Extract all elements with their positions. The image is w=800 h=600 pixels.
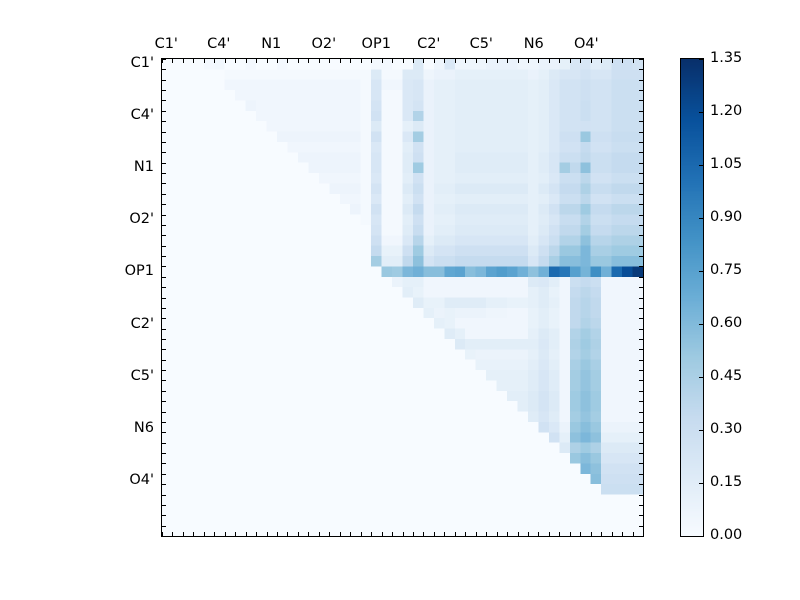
axis-tick bbox=[256, 59, 257, 63]
axis-tick bbox=[371, 59, 372, 63]
axis-tick bbox=[423, 532, 424, 536]
colorbar-tick-label: 0.90 bbox=[710, 209, 742, 225]
axis-tick bbox=[162, 515, 166, 516]
axis-tick bbox=[162, 463, 166, 464]
axis-tick bbox=[639, 526, 643, 527]
colorbar-tick-label: 0.15 bbox=[710, 474, 742, 490]
axis-tick bbox=[639, 69, 643, 70]
y-tick-label: OP1 bbox=[125, 263, 154, 279]
figure-canvas: C1'C4'N1O2'OP1C2'C5'N6O4' C1'C4'N1O2'OP1… bbox=[0, 0, 800, 600]
axis-tick bbox=[162, 121, 166, 122]
axis-tick bbox=[162, 505, 166, 506]
axis-tick bbox=[162, 495, 166, 496]
axis-tick bbox=[162, 484, 166, 485]
axis-tick bbox=[580, 59, 581, 63]
axis-tick bbox=[162, 80, 166, 81]
axis-tick bbox=[423, 59, 424, 63]
axis-tick bbox=[465, 59, 466, 63]
axis-tick bbox=[639, 59, 643, 60]
axis-tick bbox=[549, 532, 550, 536]
x-tick-label: O4' bbox=[574, 36, 599, 52]
axis-tick bbox=[340, 59, 341, 63]
axis-tick bbox=[162, 277, 166, 278]
axis-tick bbox=[639, 183, 643, 184]
axis-tick bbox=[162, 443, 166, 444]
axis-tick bbox=[639, 349, 643, 350]
axis-tick bbox=[639, 360, 643, 361]
axis-tick bbox=[570, 532, 571, 536]
axis-tick bbox=[444, 532, 445, 536]
axis-tick bbox=[162, 90, 166, 91]
axis-tick bbox=[350, 59, 351, 63]
axis-tick bbox=[308, 59, 309, 63]
axis-tick bbox=[162, 69, 166, 70]
x-tick-label: C4' bbox=[207, 36, 230, 52]
axis-tick bbox=[639, 412, 643, 413]
axis-tick bbox=[277, 532, 278, 536]
colorbar-tick bbox=[699, 483, 703, 484]
axis-tick bbox=[639, 266, 643, 267]
axis-tick bbox=[403, 59, 404, 63]
y-tick-label: N6 bbox=[134, 420, 154, 436]
axis-tick bbox=[639, 152, 643, 153]
colorbar-tick bbox=[699, 430, 703, 431]
axis-tick bbox=[639, 391, 643, 392]
axis-tick bbox=[162, 132, 166, 133]
axis-tick bbox=[235, 532, 236, 536]
colorbar-tick-label: 0.00 bbox=[710, 527, 742, 543]
axis-tick bbox=[455, 532, 456, 536]
x-tick-label: OP1 bbox=[362, 36, 391, 52]
axis-tick bbox=[622, 59, 623, 63]
axis-tick bbox=[591, 59, 592, 63]
axis-tick bbox=[172, 59, 173, 63]
axis-tick bbox=[162, 142, 166, 143]
axis-tick bbox=[633, 59, 634, 63]
axis-tick bbox=[497, 59, 498, 63]
axis-tick bbox=[256, 532, 257, 536]
axis-tick bbox=[549, 59, 550, 63]
colorbar-tick bbox=[699, 377, 703, 378]
axis-tick bbox=[162, 380, 166, 381]
axis-tick bbox=[361, 59, 362, 63]
axis-tick bbox=[162, 432, 166, 433]
axis-tick bbox=[319, 532, 320, 536]
axis-tick bbox=[183, 59, 184, 63]
axis-tick bbox=[298, 532, 299, 536]
y-tick-label: N1 bbox=[134, 159, 154, 175]
axis-tick bbox=[639, 495, 643, 496]
axis-tick bbox=[162, 266, 166, 267]
axis-tick bbox=[601, 59, 602, 63]
axis-tick bbox=[639, 204, 643, 205]
axis-tick bbox=[204, 59, 205, 63]
axis-tick bbox=[639, 443, 643, 444]
colorbar-tick-label: 0.45 bbox=[710, 368, 742, 384]
colorbar-tick bbox=[699, 165, 703, 166]
axis-tick bbox=[538, 59, 539, 63]
colorbar-tick-label: 0.75 bbox=[710, 262, 742, 278]
y-tick-label: C1' bbox=[131, 55, 154, 71]
colorbar-tick-label: 0.30 bbox=[710, 421, 742, 437]
axis-tick bbox=[193, 59, 194, 63]
axis-tick bbox=[162, 235, 166, 236]
y-tick-label: C2' bbox=[131, 316, 154, 332]
axis-tick bbox=[319, 59, 320, 63]
axis-tick bbox=[287, 59, 288, 63]
axis-tick bbox=[486, 532, 487, 536]
axis-tick bbox=[633, 532, 634, 536]
axis-tick bbox=[214, 532, 215, 536]
colorbar bbox=[680, 58, 704, 537]
axis-tick bbox=[639, 308, 643, 309]
axis-tick bbox=[639, 163, 643, 164]
axis-tick bbox=[361, 532, 362, 536]
x-tick-label: C1' bbox=[155, 36, 178, 52]
axis-tick bbox=[639, 505, 643, 506]
axis-tick bbox=[639, 194, 643, 195]
axis-tick bbox=[639, 370, 643, 371]
axis-tick bbox=[434, 59, 435, 63]
colorbar-tick bbox=[699, 59, 703, 60]
axis-tick bbox=[162, 308, 166, 309]
colorbar-tick-label: 1.35 bbox=[710, 50, 742, 66]
axis-tick bbox=[225, 59, 226, 63]
axis-tick bbox=[267, 532, 268, 536]
axis-tick bbox=[639, 380, 643, 381]
axis-tick bbox=[639, 401, 643, 402]
axis-tick bbox=[162, 474, 166, 475]
colorbar-tick-label: 1.05 bbox=[710, 156, 742, 172]
axis-tick bbox=[639, 318, 643, 319]
y-tick-label: C4' bbox=[131, 107, 154, 123]
axis-tick bbox=[162, 422, 166, 423]
axis-tick bbox=[403, 532, 404, 536]
axis-tick bbox=[193, 532, 194, 536]
axis-tick bbox=[639, 121, 643, 122]
colorbar-tick bbox=[699, 112, 703, 113]
axis-tick bbox=[162, 287, 166, 288]
axis-tick bbox=[444, 59, 445, 63]
axis-tick bbox=[308, 532, 309, 536]
axis-tick bbox=[639, 432, 643, 433]
axis-tick bbox=[225, 532, 226, 536]
axis-tick bbox=[639, 111, 643, 112]
axis-tick bbox=[162, 360, 166, 361]
axis-tick bbox=[246, 59, 247, 63]
y-tick-label: O4' bbox=[129, 472, 154, 488]
axis-tick bbox=[559, 532, 560, 536]
axis-tick bbox=[162, 152, 166, 153]
axis-tick bbox=[434, 532, 435, 536]
axis-tick bbox=[162, 412, 166, 413]
axis-tick bbox=[162, 349, 166, 350]
axis-tick bbox=[639, 80, 643, 81]
colorbar-tick bbox=[699, 324, 703, 325]
axis-tick bbox=[643, 59, 644, 63]
axis-tick bbox=[172, 532, 173, 536]
axis-tick bbox=[639, 100, 643, 101]
axis-tick bbox=[329, 532, 330, 536]
colorbar-tick bbox=[699, 271, 703, 272]
axis-tick bbox=[298, 59, 299, 63]
axis-tick bbox=[162, 215, 166, 216]
axis-tick bbox=[486, 59, 487, 63]
axis-tick bbox=[639, 277, 643, 278]
y-tick-label: O2' bbox=[129, 211, 154, 227]
axis-tick bbox=[639, 536, 643, 537]
axis-tick bbox=[162, 111, 166, 112]
axis-tick bbox=[570, 59, 571, 63]
axis-tick bbox=[162, 204, 166, 205]
axis-tick bbox=[162, 339, 166, 340]
axis-tick bbox=[639, 256, 643, 257]
x-tick-label: N6 bbox=[524, 36, 544, 52]
axis-tick bbox=[162, 536, 166, 537]
axis-tick bbox=[639, 90, 643, 91]
axis-tick bbox=[382, 59, 383, 63]
axis-tick bbox=[528, 532, 529, 536]
axis-tick bbox=[518, 532, 519, 536]
axis-tick bbox=[183, 532, 184, 536]
x-tick-label: C2' bbox=[417, 36, 440, 52]
axis-tick bbox=[612, 532, 613, 536]
axis-tick bbox=[639, 484, 643, 485]
axis-tick bbox=[204, 532, 205, 536]
axis-tick bbox=[507, 59, 508, 63]
axis-tick bbox=[162, 318, 166, 319]
axis-tick bbox=[162, 329, 166, 330]
axis-tick bbox=[235, 59, 236, 63]
axis-tick bbox=[162, 401, 166, 402]
axis-tick bbox=[392, 59, 393, 63]
heatmap-image bbox=[162, 59, 643, 536]
colorbar-tick bbox=[699, 536, 703, 537]
axis-tick bbox=[639, 474, 643, 475]
axis-tick bbox=[538, 532, 539, 536]
colorbar-gradient bbox=[681, 59, 703, 536]
axis-tick bbox=[639, 173, 643, 174]
colorbar-tick-label: 1.20 bbox=[710, 103, 742, 119]
axis-tick bbox=[162, 298, 166, 299]
axis-tick bbox=[591, 532, 592, 536]
colorbar-tick bbox=[699, 218, 703, 219]
axis-tick bbox=[455, 59, 456, 63]
axis-tick bbox=[162, 59, 166, 60]
axis-tick bbox=[329, 59, 330, 63]
axis-tick bbox=[639, 339, 643, 340]
axis-tick bbox=[287, 532, 288, 536]
axis-tick bbox=[507, 532, 508, 536]
y-tick-label: C5' bbox=[131, 368, 154, 384]
axis-tick bbox=[639, 132, 643, 133]
axis-tick bbox=[639, 298, 643, 299]
axis-tick bbox=[559, 59, 560, 63]
axis-tick bbox=[162, 453, 166, 454]
axis-tick bbox=[214, 59, 215, 63]
axis-tick bbox=[162, 256, 166, 257]
axis-tick bbox=[518, 59, 519, 63]
axis-tick bbox=[639, 287, 643, 288]
axis-tick bbox=[382, 532, 383, 536]
colorbar-tick-label: 0.60 bbox=[710, 315, 742, 331]
axis-tick bbox=[639, 235, 643, 236]
heatmap-axes bbox=[161, 58, 644, 537]
axis-tick bbox=[162, 173, 166, 174]
axis-tick bbox=[162, 225, 166, 226]
axis-tick bbox=[267, 59, 268, 63]
axis-tick bbox=[612, 59, 613, 63]
axis-tick bbox=[162, 526, 166, 527]
axis-tick bbox=[476, 532, 477, 536]
axis-tick bbox=[639, 422, 643, 423]
axis-tick bbox=[162, 246, 166, 247]
axis-tick bbox=[162, 100, 166, 101]
axis-tick bbox=[465, 532, 466, 536]
axis-tick bbox=[643, 532, 644, 536]
axis-tick bbox=[340, 532, 341, 536]
axis-tick bbox=[476, 59, 477, 63]
axis-tick bbox=[580, 532, 581, 536]
axis-tick bbox=[639, 246, 643, 247]
x-tick-label: C5' bbox=[470, 36, 493, 52]
axis-tick bbox=[601, 532, 602, 536]
axis-tick bbox=[392, 532, 393, 536]
axis-tick bbox=[246, 532, 247, 536]
axis-tick bbox=[639, 463, 643, 464]
axis-tick bbox=[497, 532, 498, 536]
axis-tick bbox=[162, 163, 166, 164]
axis-tick bbox=[350, 532, 351, 536]
axis-tick bbox=[162, 194, 166, 195]
axis-tick bbox=[639, 215, 643, 216]
axis-tick bbox=[413, 59, 414, 63]
axis-tick bbox=[622, 532, 623, 536]
axis-tick bbox=[162, 370, 166, 371]
axis-tick bbox=[371, 532, 372, 536]
axis-tick bbox=[277, 59, 278, 63]
axis-tick bbox=[639, 225, 643, 226]
x-tick-label: O2' bbox=[311, 36, 336, 52]
x-tick-label: N1 bbox=[261, 36, 281, 52]
axis-tick bbox=[413, 532, 414, 536]
axis-tick bbox=[162, 391, 166, 392]
axis-tick bbox=[639, 453, 643, 454]
axis-tick bbox=[528, 59, 529, 63]
axis-tick bbox=[639, 515, 643, 516]
axis-tick bbox=[639, 329, 643, 330]
axis-tick bbox=[162, 183, 166, 184]
axis-tick bbox=[639, 142, 643, 143]
